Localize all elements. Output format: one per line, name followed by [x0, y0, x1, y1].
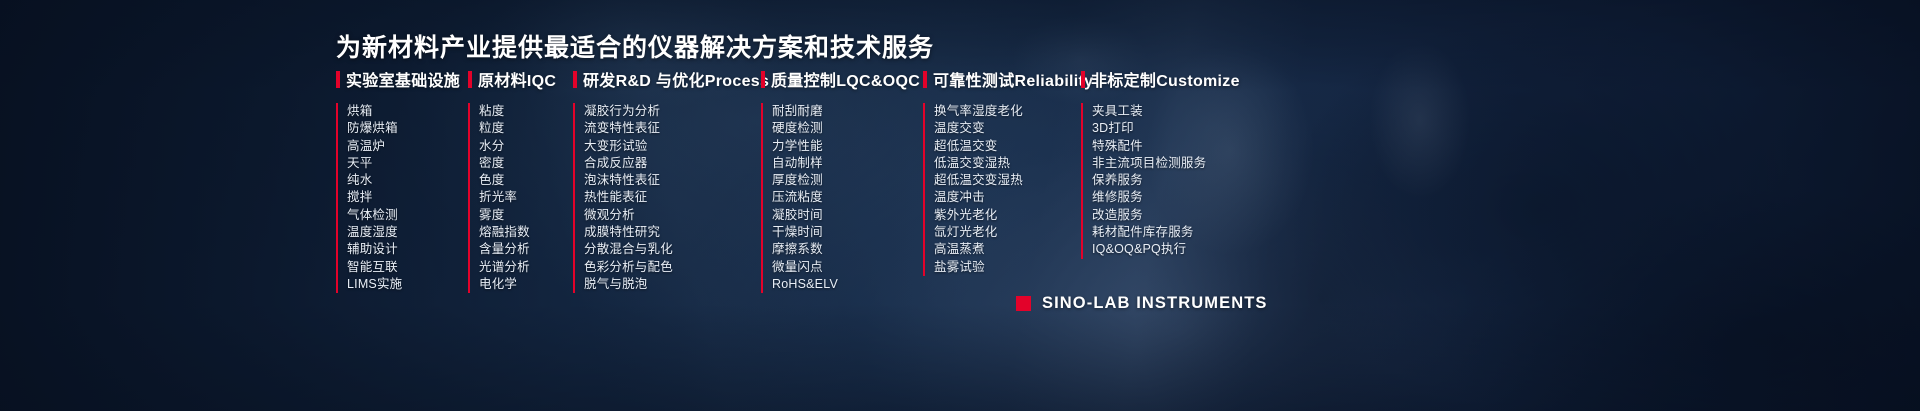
- column-header-label: 研发R&D 与优化Process: [583, 67, 769, 91]
- column-header: 原材料IQC: [468, 68, 573, 90]
- brand-name: SINO-LAB INSTRUMENTS: [1042, 294, 1268, 313]
- red-bar-icon: [923, 71, 927, 88]
- list-item[interactable]: 大变形试验: [584, 138, 761, 155]
- category-column-rnd-process: 研发R&D 与优化Process 凝胶行为分析 流变特性表征 大变形试验 合成反…: [573, 68, 761, 293]
- column-header: 质量控制LQC&OQC: [761, 68, 923, 90]
- category-column-customize: 非标定制Customize 夹具工装 3D打印 特殊配件 非主流项目检测服务 保…: [1081, 68, 1281, 259]
- list-item[interactable]: RoHS&ELV: [772, 276, 923, 293]
- column-header-label: 实验室基础设施: [346, 67, 460, 91]
- list-item[interactable]: 防爆烘箱: [347, 120, 468, 137]
- list-item[interactable]: 分散混合与乳化: [584, 241, 761, 258]
- list-item[interactable]: 密度: [479, 155, 573, 172]
- list-item[interactable]: 流变特性表征: [584, 120, 761, 137]
- list-item[interactable]: 厚度检测: [772, 172, 923, 189]
- red-bar-icon: [761, 71, 765, 88]
- list-item[interactable]: 3D打印: [1092, 120, 1281, 137]
- list-item[interactable]: 微观分析: [584, 207, 761, 224]
- red-bar-icon: [1081, 71, 1085, 88]
- banner-content: 为新材料产业提供最适合的仪器解决方案和技术服务 实验室基础设施 烘箱 防爆烘箱 …: [0, 0, 1920, 411]
- list-item[interactable]: 烘箱: [347, 103, 468, 120]
- list-item[interactable]: 粒度: [479, 120, 573, 137]
- list-item[interactable]: 非主流项目检测服务: [1092, 155, 1281, 172]
- page-title: 为新材料产业提供最适合的仪器解决方案和技术服务: [336, 28, 934, 64]
- list-item[interactable]: 干燥时间: [772, 224, 923, 241]
- column-items: 凝胶行为分析 流变特性表征 大变形试验 合成反应器 泡沫特性表征 热性能表征 微…: [573, 103, 761, 293]
- list-item[interactable]: 色彩分析与配色: [584, 259, 761, 276]
- list-item[interactable]: 紫外光老化: [934, 207, 1081, 224]
- list-item[interactable]: 光谱分析: [479, 259, 573, 276]
- list-item[interactable]: 维修服务: [1092, 189, 1281, 206]
- category-column-quality-control: 质量控制LQC&OQC 耐刮耐磨 硬度检测 力学性能 自动制样 厚度检测 压流粘…: [761, 68, 923, 293]
- category-columns: 实验室基础设施 烘箱 防爆烘箱 高温炉 天平 纯水 搅拌 气体检测 温度湿度 辅…: [336, 68, 1281, 293]
- list-item[interactable]: 成膜特性研究: [584, 224, 761, 241]
- list-item[interactable]: LIMS实施: [347, 276, 468, 293]
- list-item[interactable]: 耗材配件库存服务: [1092, 224, 1281, 241]
- list-item[interactable]: 折光率: [479, 189, 573, 206]
- red-bar-icon: [573, 71, 577, 88]
- list-item[interactable]: 凝胶时间: [772, 207, 923, 224]
- column-header-label: 可靠性测试Reliability: [933, 67, 1093, 91]
- list-item[interactable]: 夹具工装: [1092, 103, 1281, 120]
- column-header: 实验室基础设施: [336, 68, 468, 90]
- list-item[interactable]: 超低温交变湿热: [934, 172, 1081, 189]
- category-column-lab-infrastructure: 实验室基础设施 烘箱 防爆烘箱 高温炉 天平 纯水 搅拌 气体检测 温度湿度 辅…: [336, 68, 468, 293]
- list-item[interactable]: 微量闪点: [772, 259, 923, 276]
- column-header: 可靠性测试Reliability: [923, 68, 1081, 90]
- column-items: 夹具工装 3D打印 特殊配件 非主流项目检测服务 保养服务 维修服务 改造服务 …: [1081, 103, 1281, 259]
- column-header-label: 原材料IQC: [478, 67, 556, 91]
- list-item[interactable]: 力学性能: [772, 138, 923, 155]
- column-items: 烘箱 防爆烘箱 高温炉 天平 纯水 搅拌 气体检测 温度湿度 辅助设计 智能互联…: [336, 103, 468, 293]
- list-item[interactable]: 搅拌: [347, 189, 468, 206]
- list-item[interactable]: 含量分析: [479, 241, 573, 258]
- list-item[interactable]: 电化学: [479, 276, 573, 293]
- red-bar-icon: [336, 71, 340, 88]
- column-items: 换气率湿度老化 温度交变 超低温交变 低温交变湿热 超低温交变湿热 温度冲击 紫…: [923, 103, 1081, 276]
- list-item[interactable]: IQ&OQ&PQ执行: [1092, 241, 1281, 258]
- list-item[interactable]: 脱气与脱泡: [584, 276, 761, 293]
- list-item[interactable]: 合成反应器: [584, 155, 761, 172]
- list-item[interactable]: 摩擦系数: [772, 241, 923, 258]
- list-item[interactable]: 天平: [347, 155, 468, 172]
- column-header: 研发R&D 与优化Process: [573, 68, 761, 90]
- red-square-icon: [1016, 296, 1031, 311]
- list-item[interactable]: 特殊配件: [1092, 138, 1281, 155]
- list-item[interactable]: 温度交变: [934, 120, 1081, 137]
- list-item[interactable]: 辅助设计: [347, 241, 468, 258]
- list-item[interactable]: 盐雾试验: [934, 259, 1081, 276]
- list-item[interactable]: 压流粘度: [772, 189, 923, 206]
- list-item[interactable]: 超低温交变: [934, 138, 1081, 155]
- list-item[interactable]: 氙灯光老化: [934, 224, 1081, 241]
- list-item[interactable]: 纯水: [347, 172, 468, 189]
- list-item[interactable]: 水分: [479, 138, 573, 155]
- list-item[interactable]: 泡沫特性表征: [584, 172, 761, 189]
- list-item[interactable]: 智能互联: [347, 259, 468, 276]
- list-item[interactable]: 改造服务: [1092, 207, 1281, 224]
- list-item[interactable]: 低温交变湿热: [934, 155, 1081, 172]
- list-item[interactable]: 高温炉: [347, 138, 468, 155]
- category-column-raw-material-iqc: 原材料IQC 粘度 粒度 水分 密度 色度 折光率 雾度 熔融指数 含量分析 光…: [468, 68, 573, 293]
- list-item[interactable]: 自动制样: [772, 155, 923, 172]
- banner: 为新材料产业提供最适合的仪器解决方案和技术服务 实验室基础设施 烘箱 防爆烘箱 …: [0, 0, 1920, 411]
- list-item[interactable]: 气体检测: [347, 207, 468, 224]
- list-item[interactable]: 换气率湿度老化: [934, 103, 1081, 120]
- red-bar-icon: [468, 71, 472, 88]
- column-header: 非标定制Customize: [1081, 68, 1281, 90]
- list-item[interactable]: 温度湿度: [347, 224, 468, 241]
- list-item[interactable]: 热性能表征: [584, 189, 761, 206]
- category-column-reliability: 可靠性测试Reliability 换气率湿度老化 温度交变 超低温交变 低温交变…: [923, 68, 1081, 276]
- list-item[interactable]: 凝胶行为分析: [584, 103, 761, 120]
- list-item[interactable]: 雾度: [479, 207, 573, 224]
- list-item[interactable]: 粘度: [479, 103, 573, 120]
- list-item[interactable]: 耐刮耐磨: [772, 103, 923, 120]
- list-item[interactable]: 硬度检测: [772, 120, 923, 137]
- column-items: 耐刮耐磨 硬度检测 力学性能 自动制样 厚度检测 压流粘度 凝胶时间 干燥时间 …: [761, 103, 923, 293]
- column-header-label: 质量控制LQC&OQC: [771, 67, 920, 91]
- list-item[interactable]: 温度冲击: [934, 189, 1081, 206]
- list-item[interactable]: 色度: [479, 172, 573, 189]
- list-item[interactable]: 熔融指数: [479, 224, 573, 241]
- brand-logo[interactable]: SINO-LAB INSTRUMENTS: [1016, 294, 1268, 313]
- list-item[interactable]: 高温蒸煮: [934, 241, 1081, 258]
- column-items: 粘度 粒度 水分 密度 色度 折光率 雾度 熔融指数 含量分析 光谱分析 电化学: [468, 103, 573, 293]
- column-header-label: 非标定制Customize: [1091, 67, 1240, 91]
- list-item[interactable]: 保养服务: [1092, 172, 1281, 189]
